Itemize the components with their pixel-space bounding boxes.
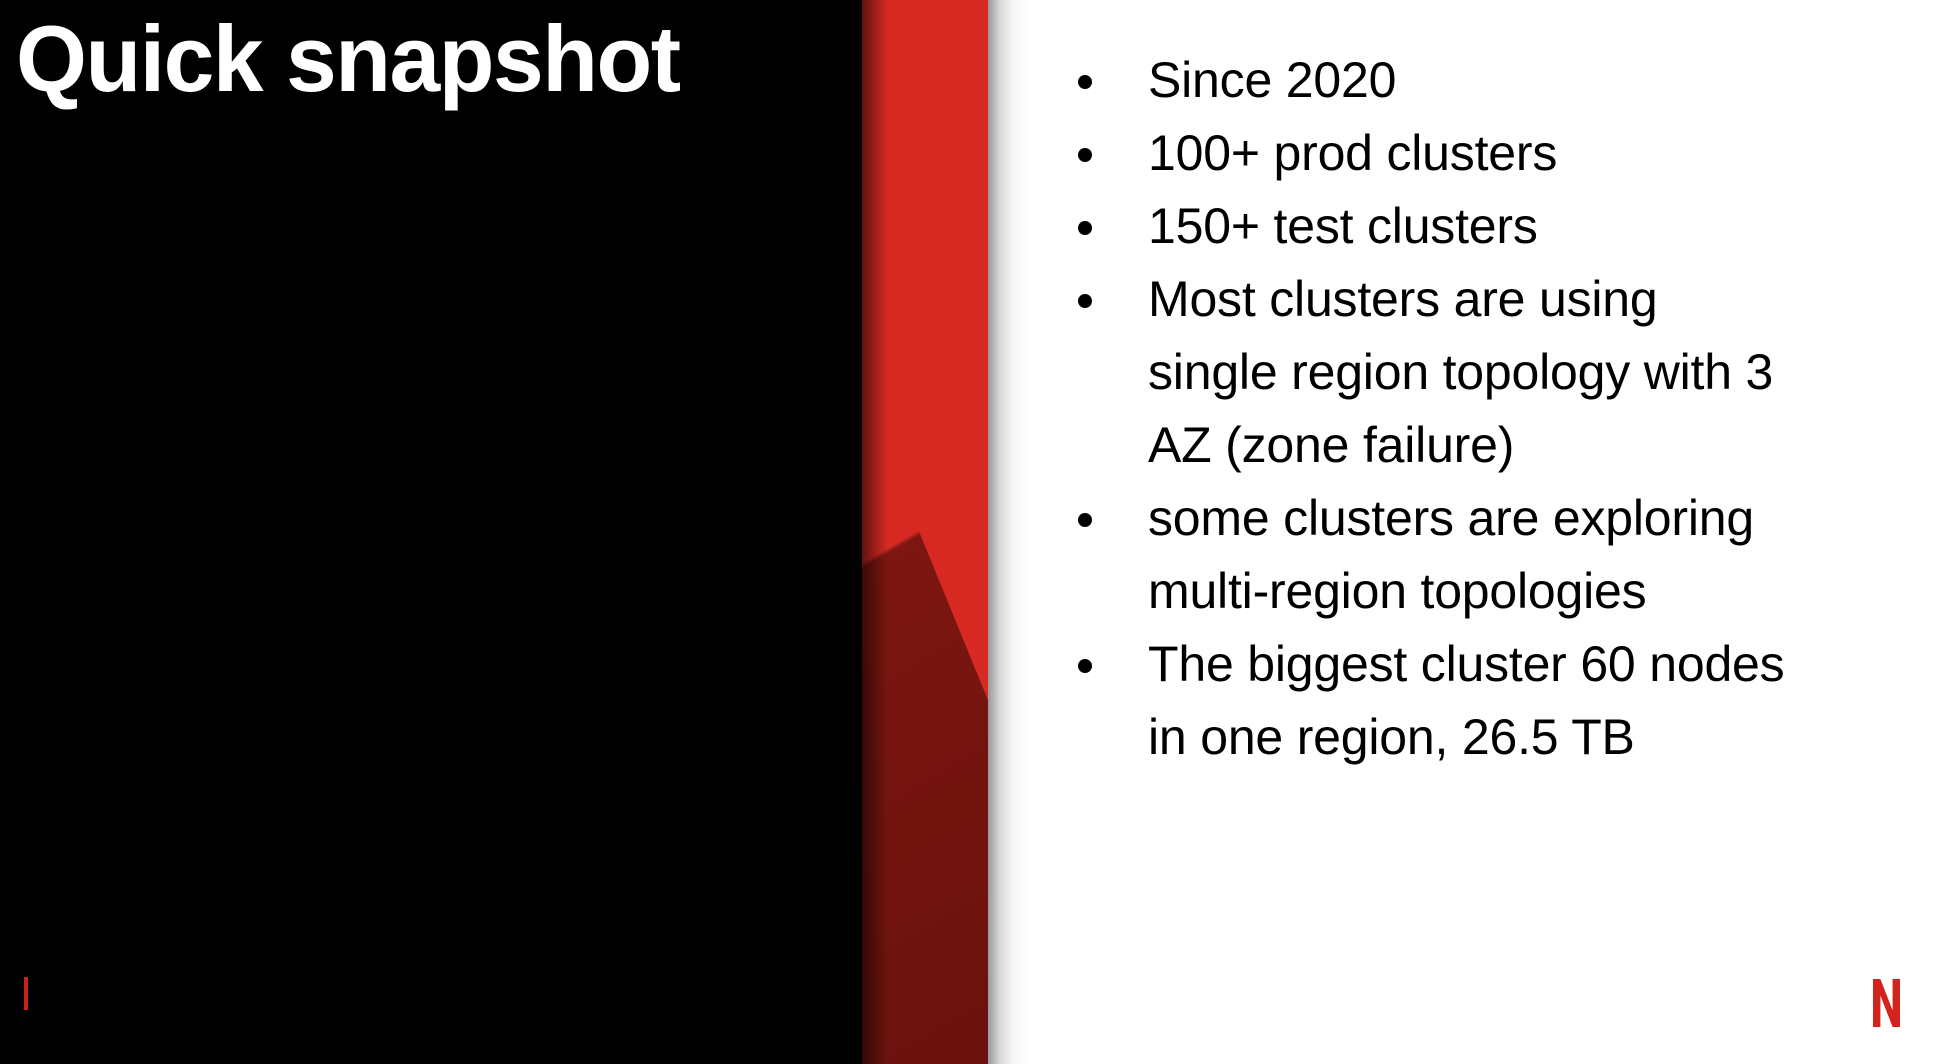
red-tick-mark [24, 977, 28, 1010]
bullet-dot-icon [1078, 659, 1092, 673]
list-item: some clusters are exploring multi-region… [1060, 482, 1800, 628]
list-item-label: some clusters are exploring multi-region… [1148, 482, 1800, 628]
red-vertical-band [862, 0, 988, 1064]
list-item: The biggest cluster 60 nodes in one regi… [1060, 628, 1800, 774]
bullet-dot-icon [1078, 148, 1092, 162]
list-item-label: 150+ test clusters [1148, 190, 1800, 263]
band-diagonal-shadow [862, 0, 988, 1064]
bullet-dot-icon [1078, 221, 1092, 235]
page-title: Quick snapshot [16, 8, 811, 110]
list-item: 100+ prod clusters [1060, 117, 1800, 190]
list-item-label: Since 2020 [1148, 44, 1800, 117]
list-item: Most clusters are using single region to… [1060, 263, 1800, 482]
list-item-label: Most clusters are using single region to… [1148, 263, 1800, 482]
left-black-panel: Quick snapshot [0, 0, 862, 1064]
snapshot-bullet-list: Since 2020 100+ prod clusters 150+ test … [1060, 44, 1800, 774]
list-item: 150+ test clusters [1060, 190, 1800, 263]
bullet-dot-icon [1078, 513, 1092, 527]
list-item: Since 2020 [1060, 44, 1800, 117]
right-content-panel: Since 2020 100+ prod clusters 150+ test … [1000, 0, 1936, 1064]
bullet-dot-icon [1078, 75, 1092, 89]
bullet-dot-icon [1078, 294, 1092, 308]
list-item-label: The biggest cluster 60 nodes in one regi… [1148, 628, 1800, 774]
list-item-label: 100+ prod clusters [1148, 117, 1800, 190]
slide-canvas: Quick snapshot Since 2020 100+ prod clus… [0, 0, 1936, 1064]
netflix-n-logo [1873, 979, 1900, 1027]
